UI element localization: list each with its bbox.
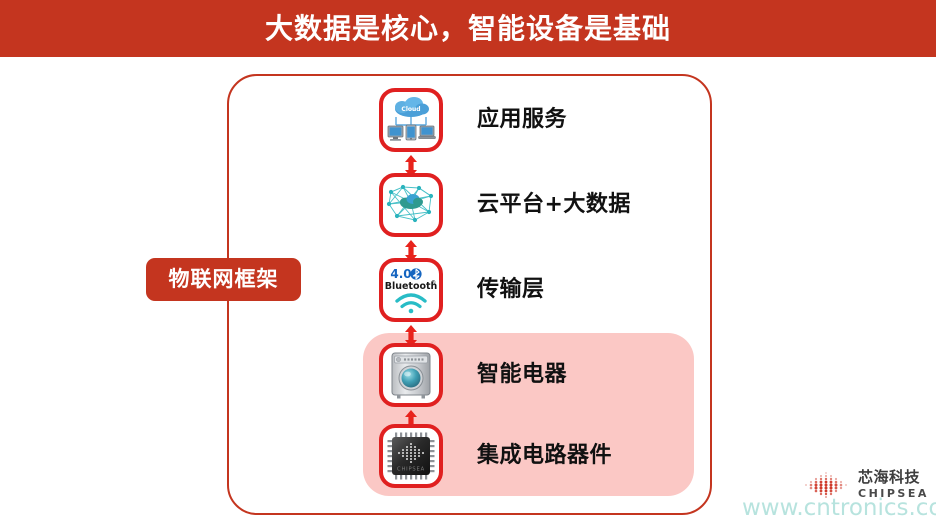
ic-chip-icon: CHIPSEA	[379, 424, 443, 488]
layer-row-application[interactable]: Cloud 应用服务	[379, 88, 709, 152]
svg-text:4.0: 4.0	[390, 267, 411, 281]
header-banner: 大数据是核心，智能设备是基础	[0, 0, 936, 57]
network-cloud-icon	[379, 173, 443, 237]
svg-text:Bluetooth: Bluetooth	[385, 281, 437, 292]
layer-label-transport: 传输层	[477, 258, 545, 322]
layer-row-smart-appliance[interactable]: 智能电器	[379, 343, 709, 407]
svg-text:®: ®	[431, 279, 436, 286]
layer-label-application: 应用服务	[477, 88, 567, 152]
layer-label-smart-appliance: 智能电器	[477, 343, 567, 407]
site-watermark: www.cntronics.com	[742, 495, 936, 521]
bluetooth-wifi-icon: 4.0 Bluetooth ®	[379, 258, 443, 322]
page-title: 大数据是核心，智能设备是基础	[0, 0, 936, 57]
framework-label: 物联网框架	[146, 258, 301, 301]
layer-label-cloud-bigdata: 云平台+大数据	[477, 173, 631, 237]
svg-text:Cloud: Cloud	[401, 106, 420, 113]
logo-name-cn: 芯海科技	[858, 468, 930, 487]
washing-machine-icon	[379, 343, 443, 407]
layer-row-transport[interactable]: 4.0 Bluetooth ® 传输层	[379, 258, 709, 322]
layer-row-cloud-bigdata[interactable]: 云平台+大数据	[379, 173, 709, 237]
cloud-devices-icon: Cloud	[379, 88, 443, 152]
layer-row-ic-device[interactable]: CHIPSEA 集成电路器件	[379, 424, 709, 488]
layer-label-ic-device: 集成电路器件	[477, 424, 612, 488]
chip-brand-text: CHIPSEA	[397, 467, 425, 473]
